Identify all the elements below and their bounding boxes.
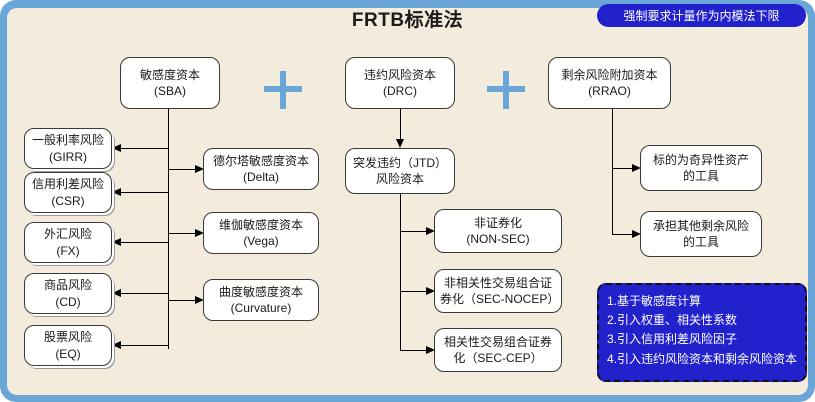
node-cd-line1: 商品风险 xyxy=(44,277,92,293)
sba-left-connector-1 xyxy=(120,148,168,149)
sba-left-connector-2 xyxy=(120,192,168,193)
node-cd-line2: (CD) xyxy=(44,294,92,310)
summary-item-2: 2.引入权重、相关性系数 xyxy=(607,311,799,330)
node-sba-line1: 敏感度资本 xyxy=(140,67,200,83)
node-fx[interactable]: 外汇风险 (FX) xyxy=(24,222,112,263)
node-sec-cep-label: 相关性交易组合证券化（SEC-CEP） xyxy=(440,334,556,366)
sba-left-arrow-3 xyxy=(112,238,121,246)
sba-left-connector-5 xyxy=(120,345,168,346)
node-jtd[interactable]: 突发违约（JTD） 风险资本 xyxy=(345,148,455,194)
sba-left-arrow-1 xyxy=(112,144,121,152)
node-csr-line1: 信用利差风险 xyxy=(32,176,104,192)
node-exotic-underlying-line2: 的工具 xyxy=(653,168,749,184)
node-csr[interactable]: 信用利差风险 (CSR) xyxy=(24,172,112,213)
node-other-residual-line1: 承担其他剩余风险 xyxy=(653,218,749,234)
node-rrao-line2: (RRAO) xyxy=(561,83,657,99)
node-girr-line1: 一般利率风险 xyxy=(32,132,104,148)
node-delta[interactable]: 德尔塔敏感度资本 (Delta) xyxy=(203,148,319,190)
node-girr-line2: (GIRR) xyxy=(32,149,104,165)
node-fx-line2: (FX) xyxy=(44,243,92,259)
node-eq[interactable]: 股票风险 (EQ) xyxy=(24,325,112,366)
sba-left-connector-3 xyxy=(120,242,168,243)
node-vega-line2: (Vega) xyxy=(219,233,303,249)
drc-down-connector xyxy=(400,109,401,141)
rrao-connector-2 xyxy=(612,234,634,235)
plus-icon-2 xyxy=(487,71,525,109)
node-drc-line2: (DRC) xyxy=(364,83,436,99)
sba-right-connector-2 xyxy=(168,233,197,234)
node-curvature-line2: (Curvature) xyxy=(219,300,303,316)
node-sba[interactable]: 敏感度资本 (SBA) xyxy=(120,57,220,109)
node-jtd-line1: 突发违约（JTD） xyxy=(353,155,447,171)
sba-trunk xyxy=(168,109,169,349)
sba-right-connector-1 xyxy=(168,169,197,170)
jtd-connector-3 xyxy=(400,350,428,351)
node-non-sec[interactable]: 非证券化 (NON-SEC) xyxy=(434,209,562,253)
node-fx-line1: 外汇风险 xyxy=(44,226,92,242)
node-csr-line2: (CSR) xyxy=(32,193,104,209)
node-rrao-line1: 剩余风险附加资本 xyxy=(561,67,657,83)
node-other-residual-line2: 的工具 xyxy=(653,234,749,250)
summary-item-4: 4.引入违约风险资本和剩余风险资本 xyxy=(607,350,799,369)
status-badge: 强制要求计量作为内模法下限 xyxy=(597,4,806,27)
drc-down-arrow xyxy=(396,139,404,148)
summary-panel: 1.基于敏感度计算 2.引入权重、相关性系数 3.引入信用利差风险因子 4.引入… xyxy=(597,283,807,382)
node-other-residual[interactable]: 承担其他剩余风险 的工具 xyxy=(640,211,762,257)
node-curvature[interactable]: 曲度敏感度资本 (Curvature) xyxy=(203,279,319,321)
node-drc[interactable]: 违约风险资本 (DRC) xyxy=(345,57,455,109)
node-vega-line1: 维伽敏感度资本 xyxy=(219,217,303,233)
plus-icon-1 xyxy=(264,71,302,109)
node-rrao[interactable]: 剩余风险附加资本 (RRAO) xyxy=(548,57,671,109)
node-sec-cep[interactable]: 相关性交易组合证券化（SEC-CEP） xyxy=(434,328,562,372)
node-vega[interactable]: 维伽敏感度资本 (Vega) xyxy=(203,212,319,254)
sba-left-arrow-4 xyxy=(112,289,121,297)
node-curvature-line1: 曲度敏感度资本 xyxy=(219,284,303,300)
node-jtd-line2: 风险资本 xyxy=(353,171,447,187)
sba-left-arrow-5 xyxy=(112,341,121,349)
node-eq-line2: (EQ) xyxy=(44,346,92,362)
sba-right-connector-3 xyxy=(168,300,197,301)
jtd-trunk xyxy=(400,194,401,350)
sba-left-arrow-2 xyxy=(112,188,121,196)
node-drc-line1: 违约风险资本 xyxy=(364,67,436,83)
node-exotic-underlying[interactable]: 标的为奇异性资产 的工具 xyxy=(640,145,762,191)
node-eq-line1: 股票风险 xyxy=(44,329,92,345)
node-non-sec-line2: (NON-SEC) xyxy=(466,231,529,247)
node-sec-nocep-label: 非相关性交易组合证券化（SEC-NOCEP） xyxy=(440,275,556,307)
jtd-connector-1 xyxy=(400,231,428,232)
node-cd[interactable]: 商品风险 (CD) xyxy=(24,273,112,314)
sba-left-connector-4 xyxy=(120,293,168,294)
node-sba-line2: (SBA) xyxy=(140,83,200,99)
diagram-canvas: FRTB标准法 强制要求计量作为内模法下限 敏感度资本 (SBA) 违约风险资本… xyxy=(0,0,815,402)
node-girr[interactable]: 一般利率风险 (GIRR) xyxy=(24,128,112,169)
node-delta-line2: (Delta) xyxy=(213,169,309,185)
node-delta-line1: 德尔塔敏感度资本 xyxy=(213,153,309,169)
summary-item-3: 3.引入信用利差风险因子 xyxy=(607,330,799,349)
node-exotic-underlying-line1: 标的为奇异性资产 xyxy=(653,152,749,168)
rrao-connector-1 xyxy=(612,168,634,169)
jtd-connector-2 xyxy=(400,291,428,292)
node-sec-nocep[interactable]: 非相关性交易组合证券化（SEC-NOCEP） xyxy=(434,269,562,313)
rrao-trunk xyxy=(612,109,613,234)
node-non-sec-line1: 非证券化 xyxy=(466,215,529,231)
summary-item-1: 1.基于敏感度计算 xyxy=(607,292,799,311)
